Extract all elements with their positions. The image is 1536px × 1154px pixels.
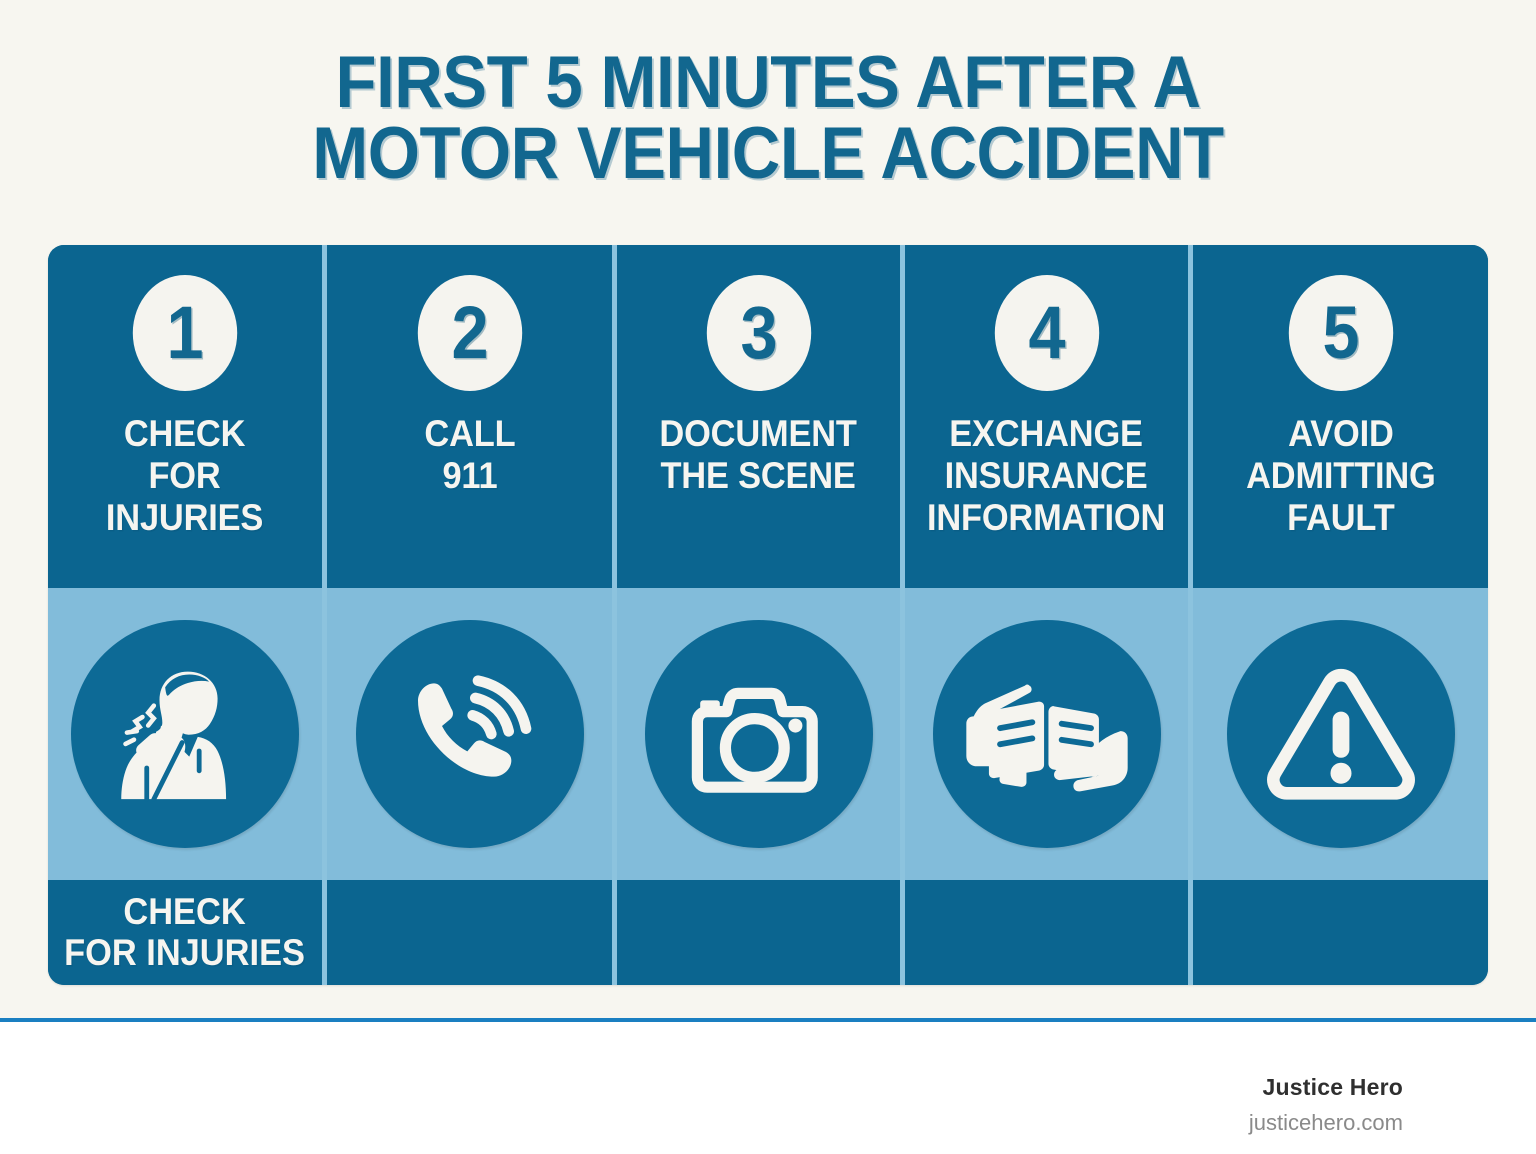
step-header-5: 5 AVOID ADMITTING FAULT bbox=[1193, 245, 1488, 588]
step-header-4: 4 EXCHANGE INSURANCE INFORMATION bbox=[905, 245, 1188, 588]
infographic-poster: FIRST 5 MINUTES AFTER A MOTOR VEHICLE AC… bbox=[0, 0, 1536, 1018]
page-footer: Justice Hero justicehero.com bbox=[0, 1018, 1536, 1154]
step-number-badge-4: 4 bbox=[994, 275, 1098, 391]
step-footer-2 bbox=[327, 880, 612, 985]
document-exchange-icon bbox=[933, 620, 1161, 848]
brand-url[interactable]: justicehero.com bbox=[1249, 1110, 1403, 1136]
steps-grid: 1 CHECK FOR INJURIES bbox=[48, 245, 1488, 985]
brand-name: Justice Hero bbox=[1263, 1074, 1403, 1101]
warning-triangle-icon bbox=[1227, 620, 1455, 848]
step-number-badge-2: 2 bbox=[417, 275, 521, 391]
footer-divider bbox=[0, 1018, 1536, 1022]
step-icon-band-1 bbox=[48, 588, 322, 880]
step-header-2: 2 CALL 911 bbox=[327, 245, 612, 588]
step-column-4: 4 EXCHANGE INSURANCE INFORMATION bbox=[900, 245, 1188, 985]
step-icon-band-3 bbox=[617, 588, 900, 880]
phone-ringing-icon bbox=[356, 620, 584, 848]
step-headline-1: CHECK FOR INJURIES bbox=[103, 413, 268, 538]
step-footer-5 bbox=[1193, 880, 1488, 985]
step-icon-band-5 bbox=[1193, 588, 1488, 880]
step-headline-5: AVOID ADMITTING FAULT bbox=[1242, 413, 1439, 538]
step-header-1: 1 CHECK FOR INJURIES bbox=[48, 245, 322, 588]
step-number-badge-1: 1 bbox=[133, 275, 237, 391]
person-shoulder-pain-icon bbox=[71, 620, 299, 848]
step-footer-4 bbox=[905, 880, 1188, 985]
step-footer-1: CHECK FOR INJURIES bbox=[48, 880, 322, 985]
step-number-badge-5: 5 bbox=[1288, 275, 1392, 391]
step-headline-4: EXCHANGE INSURANCE INFORMATION bbox=[924, 413, 1170, 538]
step-icon-band-4 bbox=[905, 588, 1188, 880]
step-column-1: 1 CHECK FOR INJURIES bbox=[48, 245, 322, 985]
step-header-3: 3 DOCUMENT THE SCENE bbox=[617, 245, 900, 588]
step-footer-3 bbox=[617, 880, 900, 985]
step-column-5: 5 AVOID ADMITTING FAULT bbox=[1188, 245, 1488, 985]
page-title: FIRST 5 MINUTES AFTER A MOTOR VEHICLE AC… bbox=[61, 48, 1474, 190]
camera-icon bbox=[645, 620, 873, 848]
step-number-badge-3: 3 bbox=[706, 275, 810, 391]
step-caption-1: CHECK FOR INJURIES bbox=[65, 892, 306, 973]
step-headline-3: DOCUMENT THE SCENE bbox=[656, 413, 861, 497]
step-column-3: 3 DOCUMENT THE SCENE bbox=[612, 245, 900, 985]
step-column-2: 2 CALL 911 bbox=[322, 245, 612, 985]
step-headline-2: CALL 911 bbox=[420, 413, 518, 497]
step-icon-band-2 bbox=[327, 588, 612, 880]
